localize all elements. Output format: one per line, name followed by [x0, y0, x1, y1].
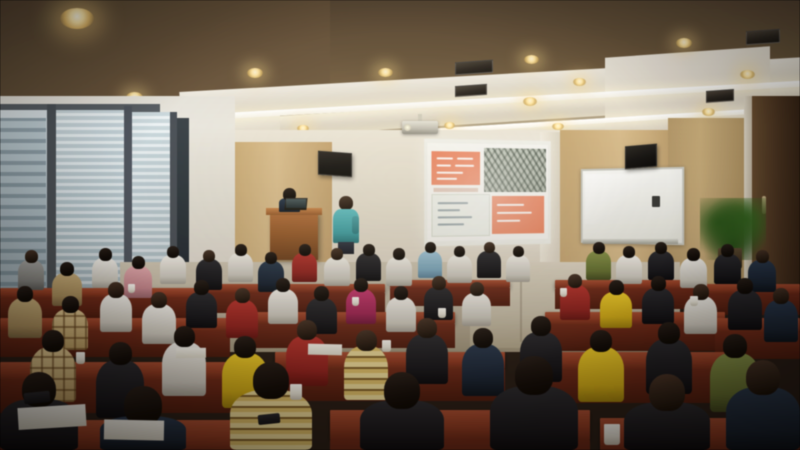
attendee-head [590, 330, 612, 352]
laptop-screen [286, 199, 306, 208]
attendee-head [417, 318, 437, 338]
attendee-torso [226, 300, 258, 338]
recessed-downlight-icon [552, 123, 564, 130]
attendee [477, 242, 501, 278]
paper-cup [690, 296, 698, 306]
attendee-torso [642, 288, 674, 324]
attendee-head [513, 246, 524, 257]
attendee-head [235, 244, 247, 256]
paper-cup [76, 352, 85, 364]
attendee-torso [600, 292, 632, 328]
paper-cup [604, 424, 620, 445]
attendee [726, 360, 800, 450]
recessed-downlight-icon [444, 122, 455, 129]
paper-cup [438, 308, 446, 318]
attendee [600, 280, 632, 328]
attendee [160, 246, 186, 284]
attendee [346, 278, 376, 324]
attendee [356, 244, 381, 281]
attendee-torso [462, 293, 491, 326]
attendee-head [132, 256, 145, 269]
attendee-torso [228, 253, 253, 282]
attendee-torso [268, 289, 298, 324]
recessed-downlight-icon [524, 55, 539, 64]
attendee-head [363, 244, 375, 256]
paper-cup [128, 284, 135, 293]
attendee [386, 248, 412, 286]
attendee-torso [356, 253, 381, 281]
attendee-torso [764, 300, 798, 342]
paper-cup [560, 288, 567, 297]
attendee-head [531, 316, 551, 336]
attendee-torso [346, 289, 376, 324]
attendee [616, 246, 642, 284]
attendee-head [484, 242, 495, 253]
attendee [578, 330, 624, 402]
attendee-head [17, 286, 33, 302]
recessed-downlight-icon [60, 8, 94, 29]
attendee-head [723, 334, 747, 358]
recessed-downlight-icon [247, 68, 263, 78]
paper-cup [290, 384, 302, 400]
air-vent [746, 29, 780, 45]
attendee-head [746, 360, 780, 395]
attendee [764, 288, 798, 342]
attendee-head [384, 372, 420, 409]
attendee-torso [160, 255, 186, 284]
attendee-head [25, 250, 38, 263]
air-vent [455, 84, 487, 97]
attendee-torso [490, 386, 578, 450]
attendee-head [649, 374, 685, 411]
attendee-head [42, 330, 64, 352]
attendee-head [515, 356, 553, 395]
recessed-downlight-icon [378, 68, 393, 77]
attendee-head [174, 326, 195, 347]
slide-orange-block-bottom-right [492, 196, 544, 234]
attendee-head [655, 242, 667, 254]
attendee-head [473, 328, 493, 348]
attendee-torso [186, 292, 217, 328]
slide-caption-bar [434, 188, 479, 192]
paper-cup [382, 340, 391, 352]
attendee [18, 250, 44, 290]
recessed-downlight-icon [676, 38, 692, 48]
attendee-head [99, 248, 112, 261]
attendee-head [194, 280, 209, 295]
attendee-head [265, 252, 277, 264]
attendee-head [314, 286, 329, 301]
attendee-head [151, 292, 167, 308]
projector-lens-icon [404, 124, 411, 131]
air-vent [706, 89, 734, 103]
attendee [360, 372, 444, 450]
attendee-torso [578, 347, 624, 402]
presenter-head [339, 196, 353, 210]
attendee-head [356, 330, 377, 351]
attendee [728, 278, 762, 330]
attendee-head [609, 280, 624, 295]
attendee-head [721, 244, 734, 257]
recessed-downlight-icon [702, 108, 715, 116]
attendee-head [62, 296, 79, 313]
slide-white-block [431, 194, 490, 237]
whiteboard-reflection [585, 174, 655, 224]
attendee-head [425, 242, 436, 253]
attendee [648, 242, 674, 280]
attendee [624, 374, 710, 450]
attendee [560, 274, 590, 320]
slide-orange-block-top-left [431, 151, 480, 185]
attendee-head [773, 288, 789, 304]
attendee-head [393, 248, 405, 260]
attendee-head [394, 286, 408, 300]
attendee-torso [100, 294, 132, 332]
attendee-torso [506, 255, 530, 282]
attendee-head [276, 278, 290, 292]
attendee-torso [418, 251, 442, 278]
attendee-torso [726, 387, 800, 450]
presenter-arm [352, 216, 359, 234]
attendee [228, 244, 253, 282]
document-on-desk [17, 404, 86, 430]
attendee [186, 280, 217, 328]
attendee [418, 242, 442, 278]
attendee-head [658, 322, 680, 344]
wall-speaker-left [318, 151, 352, 177]
attendee [100, 386, 186, 450]
slide-photo-block [484, 148, 546, 192]
attendee [642, 276, 674, 324]
projection-screen [424, 139, 550, 247]
attendee-head [299, 244, 311, 256]
attendee [506, 246, 530, 282]
attendee [292, 244, 317, 282]
recessed-downlight-icon [573, 78, 586, 86]
attendee-torso [728, 290, 762, 330]
recessed-downlight-icon [740, 70, 755, 79]
attendee-head [109, 342, 132, 365]
attendee [462, 282, 491, 326]
document-on-desk [176, 348, 206, 358]
attendee [680, 248, 707, 288]
presentation-slide [427, 143, 548, 241]
attendee-head [60, 262, 74, 276]
attendee-head [253, 362, 289, 399]
attendee-head [568, 274, 582, 288]
attendee-torso [477, 251, 501, 278]
attendee-head [432, 276, 446, 290]
attendee-head [108, 282, 124, 298]
attendee [268, 278, 298, 324]
attendee-head [593, 242, 605, 254]
wall-speaker-right [625, 144, 657, 170]
document-on-desk [104, 419, 164, 440]
attendee-head [687, 248, 700, 261]
attendee-head [651, 276, 666, 291]
attendee-head [470, 282, 484, 296]
document-on-desk [308, 344, 342, 356]
attendee-head [203, 250, 215, 262]
attendee [226, 288, 258, 338]
attendee-torso [386, 257, 412, 286]
attendee-head [235, 288, 250, 303]
attendee-head [297, 320, 317, 340]
attendee-head [737, 278, 753, 294]
recessed-downlight-icon [523, 97, 537, 106]
attendee-head [234, 336, 256, 358]
attendee-head [756, 250, 769, 263]
attendee [490, 356, 578, 450]
whiteboard-marker [652, 196, 660, 207]
attendee-head [454, 246, 465, 257]
paper-cup [352, 297, 359, 306]
attendee [230, 362, 312, 450]
attendee-head [331, 248, 343, 260]
attendee-head [167, 246, 179, 258]
attendee-head [623, 246, 635, 258]
attendee-head [354, 278, 368, 292]
air-vent [455, 60, 493, 76]
seminar-room-photo [0, 0, 800, 450]
